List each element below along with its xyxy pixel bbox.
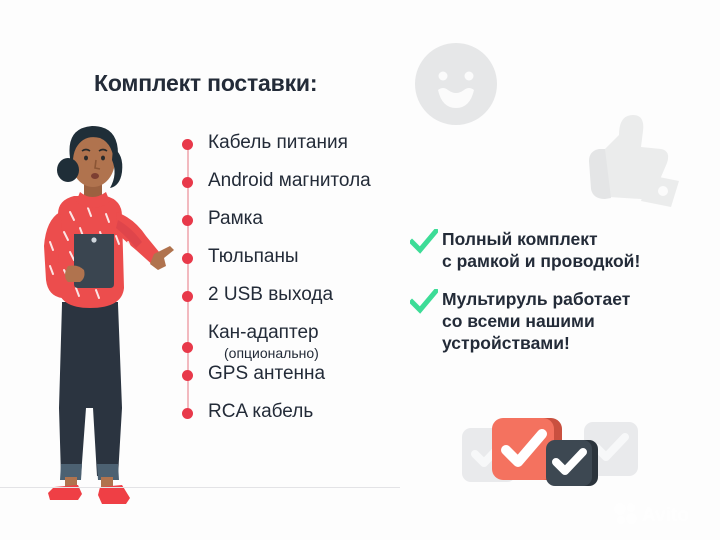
bullet-marker: [178, 282, 208, 320]
check-icon: [410, 289, 438, 315]
bullet-dot-icon: [182, 215, 193, 226]
bullet-marker: [178, 130, 208, 168]
smiley-face-icon: [410, 38, 502, 130]
list-item-label: Кан-адаптер: [208, 320, 319, 342]
bullet-marker: [178, 244, 208, 282]
bullet-marker: [178, 206, 208, 244]
check-cards-graphic: [462, 412, 638, 492]
bullet-dot-icon: [182, 408, 193, 419]
bullet-marker: [178, 168, 208, 206]
bullet-marker: [178, 399, 208, 437]
feature-text: Полный комплект с рамкой и проводкой!: [442, 228, 640, 272]
list-item: Кабель питания: [178, 130, 418, 168]
promo-image-canvas: Комплект поставки:: [0, 0, 720, 540]
avito-watermark: Avito: [612, 500, 708, 526]
woman-illustration: [18, 108, 178, 508]
list-item: Android магнитола: [178, 168, 418, 206]
bullet-dot-icon: [182, 291, 193, 302]
bullet-dot-icon: [182, 370, 193, 381]
list-item: Тюльпаны: [178, 244, 418, 282]
list-item: 2 USB выхода: [178, 282, 418, 320]
bullet-marker: [178, 361, 208, 399]
list-item-label: Тюльпаны: [208, 244, 299, 266]
list-item-label: 2 USB выхода: [208, 282, 333, 304]
feature-line-1: Полный комплект: [442, 228, 640, 250]
feature-item: Полный комплект с рамкой и проводкой!: [410, 228, 700, 272]
feature-line-1: Мультируль работает: [442, 288, 630, 310]
feature-text: Мультируль работает со всеми нашими устр…: [442, 288, 630, 354]
list-item-label: RCA кабель: [208, 399, 313, 421]
contents-bullet-list: Кабель питания Android магнитола Рамка Т…: [178, 130, 418, 437]
thumbs-up-icon: [575, 105, 685, 210]
ground-line: [0, 487, 400, 488]
page-title: Комплект поставки:: [94, 70, 317, 97]
bullet-dot-icon: [182, 177, 193, 188]
bullet-marker: [178, 320, 208, 361]
list-item: RCA кабель: [178, 399, 418, 437]
check-icon: [410, 229, 438, 255]
bullet-dot-icon: [182, 139, 193, 150]
feature-line-2: с рамкой и проводкой!: [442, 250, 640, 272]
list-item-label: Android магнитола: [208, 168, 371, 190]
list-item-label: Рамка: [208, 206, 263, 228]
watermark-text: Avito: [642, 505, 689, 526]
bullet-dot-icon: [182, 253, 193, 264]
list-item-sublabel: (опционально): [208, 342, 319, 361]
bullet-dot-icon: [182, 342, 193, 353]
list-item: Кан-адаптер (опционально): [178, 320, 418, 361]
list-item: Рамка: [178, 206, 418, 244]
feature-line-2: со всеми нашими: [442, 310, 630, 332]
list-item-label: GPS антенна: [208, 361, 325, 383]
list-item-label: Кабель питания: [208, 130, 348, 152]
feature-item: Мультируль работает со всеми нашими устр…: [410, 288, 700, 354]
list-item: GPS антенна: [178, 361, 418, 399]
feature-list: Полный комплект с рамкой и проводкой! Му…: [410, 228, 700, 370]
feature-line-3: устройствами!: [442, 332, 630, 354]
